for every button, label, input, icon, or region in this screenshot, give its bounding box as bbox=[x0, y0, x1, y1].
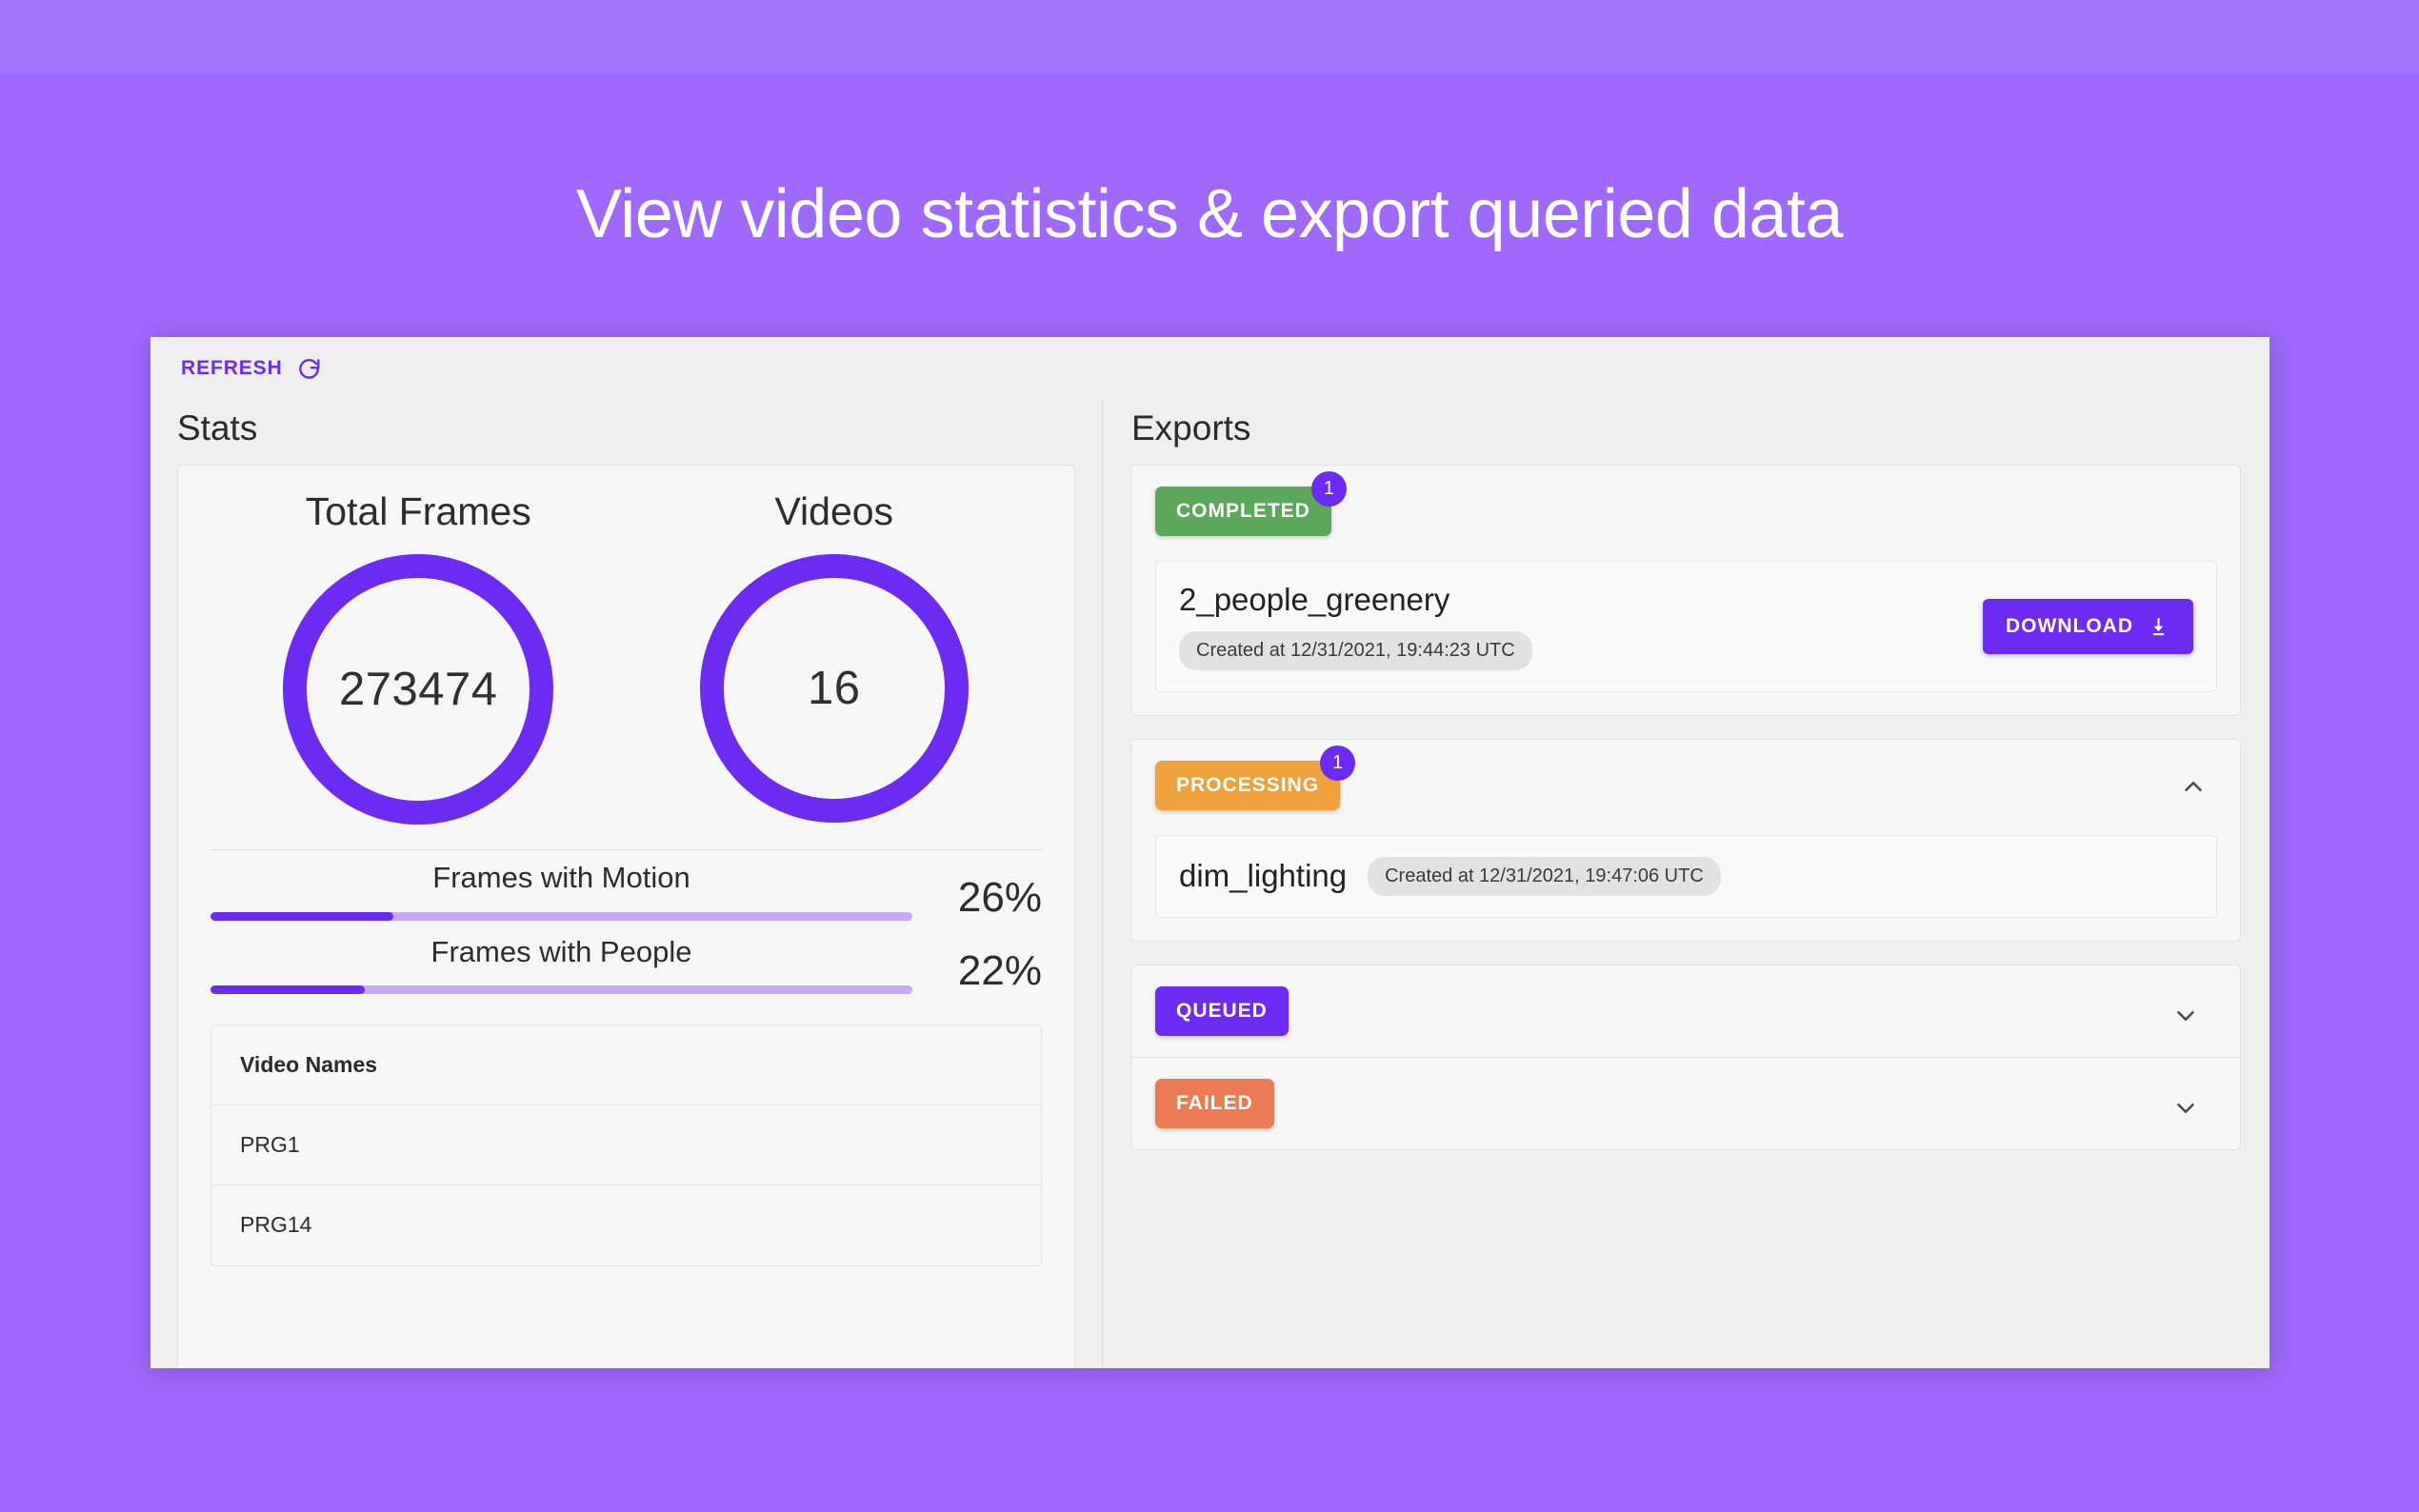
status-badge-queued[interactable]: QUEUED bbox=[1155, 986, 1289, 1036]
count-badge: 1 bbox=[1320, 746, 1355, 781]
stats-heading: Stats bbox=[177, 408, 1075, 449]
exports-heading: Exports bbox=[1131, 408, 2241, 449]
export-group-failed[interactable]: FAILED bbox=[1132, 1058, 2240, 1149]
progress-percent: 26% bbox=[930, 877, 1042, 921]
download-icon bbox=[2147, 615, 2170, 639]
stat-videos: Videos 16 bbox=[634, 490, 1033, 823]
chevron-down-icon[interactable] bbox=[2169, 1092, 2202, 1124]
status-badge-completed[interactable]: COMPLETED bbox=[1155, 487, 1331, 536]
background-band bbox=[0, 0, 2419, 74]
badge-wrap-queued: QUEUED bbox=[1155, 986, 1289, 1036]
donut-row: Total Frames 273474 Videos 16 bbox=[210, 490, 1042, 846]
badge-wrap-processing: PROCESSING 1 bbox=[1155, 761, 1340, 810]
download-button-label: DOWNLOAD bbox=[2006, 615, 2133, 638]
download-button[interactable]: DOWNLOAD bbox=[1983, 599, 2193, 654]
status-badge-failed[interactable]: FAILED bbox=[1155, 1079, 1274, 1128]
stat-label: Total Frames bbox=[219, 490, 618, 533]
refresh-icon bbox=[296, 356, 321, 381]
table-header: Video Names bbox=[211, 1025, 1041, 1105]
export-item: dim_lighting Created at 12/31/2021, 19:4… bbox=[1155, 835, 2217, 918]
stats-card: Total Frames 273474 Videos 16 bbox=[177, 465, 1075, 1368]
donut-chart-videos: 16 bbox=[700, 554, 969, 823]
export-group-queued[interactable]: QUEUED bbox=[1132, 965, 2240, 1058]
export-item-name: dim_lighting bbox=[1179, 859, 1347, 893]
export-item-timestamp: Created at 12/31/2021, 19:47:06 UTC bbox=[1368, 857, 1721, 896]
page-title: View video statistics & export queried d… bbox=[0, 177, 2419, 252]
progress-row-people: Frames with People 22% bbox=[210, 936, 1042, 994]
status-badge-processing[interactable]: PROCESSING bbox=[1155, 761, 1340, 810]
progress-track bbox=[210, 985, 912, 994]
toolbar: REFRESH bbox=[150, 337, 2269, 400]
donut-value: 273474 bbox=[339, 663, 498, 716]
badge-wrap-completed: COMPLETED 1 bbox=[1155, 487, 1331, 536]
app-window: REFRESH Stats Total Frames 273474 bbox=[150, 337, 2269, 1368]
donut-chart-total-frames: 273474 bbox=[283, 554, 553, 825]
export-item: 2_people_greenery Created at 12/31/2021,… bbox=[1155, 561, 2217, 691]
export-group-processing: PROCESSING 1 dim_lighting Created at 12/… bbox=[1131, 739, 2241, 942]
table-row[interactable]: PRG1 bbox=[211, 1105, 1041, 1185]
stat-label: Videos bbox=[634, 490, 1033, 533]
progress-row-motion: Frames with Motion 26% bbox=[210, 862, 1042, 920]
video-names-table: Video Names PRG1 PRG14 bbox=[210, 1025, 1042, 1266]
refresh-button-label: REFRESH bbox=[181, 357, 283, 380]
refresh-button[interactable]: REFRESH bbox=[177, 350, 325, 387]
progress-track bbox=[210, 912, 912, 921]
count-badge: 1 bbox=[1311, 471, 1347, 507]
donut-value: 16 bbox=[808, 662, 861, 715]
progress-label: Frames with People bbox=[210, 936, 912, 968]
progress-fill bbox=[210, 912, 393, 921]
table-row[interactable]: PRG14 bbox=[211, 1185, 1041, 1265]
chevron-up-icon[interactable] bbox=[2177, 770, 2209, 803]
progress-fill bbox=[210, 985, 365, 994]
export-item-timestamp: Created at 12/31/2021, 19:44:23 UTC bbox=[1179, 631, 1532, 670]
progress-percent: 22% bbox=[930, 950, 1042, 994]
export-item-name: 2_people_greenery bbox=[1179, 583, 1532, 617]
export-collapsed-groups: QUEUED FAILED bbox=[1131, 965, 2241, 1150]
badge-wrap-failed: FAILED bbox=[1155, 1079, 1274, 1128]
export-group-completed: COMPLETED 1 2_people_greenery Created at… bbox=[1131, 465, 2241, 715]
progress-group: Frames with Motion 26% Frames with Peopl… bbox=[210, 850, 1042, 999]
stats-column: Stats Total Frames 273474 Videos 16 bbox=[150, 400, 1103, 1368]
stat-total-frames: Total Frames 273474 bbox=[219, 490, 618, 825]
exports-column: Exports COMPLETED 1 2_people_greenery Cr… bbox=[1103, 400, 2269, 1368]
progress-label: Frames with Motion bbox=[210, 862, 912, 894]
chevron-down-icon[interactable] bbox=[2169, 1000, 2202, 1032]
app-body: Stats Total Frames 273474 Videos 16 bbox=[150, 400, 2269, 1368]
